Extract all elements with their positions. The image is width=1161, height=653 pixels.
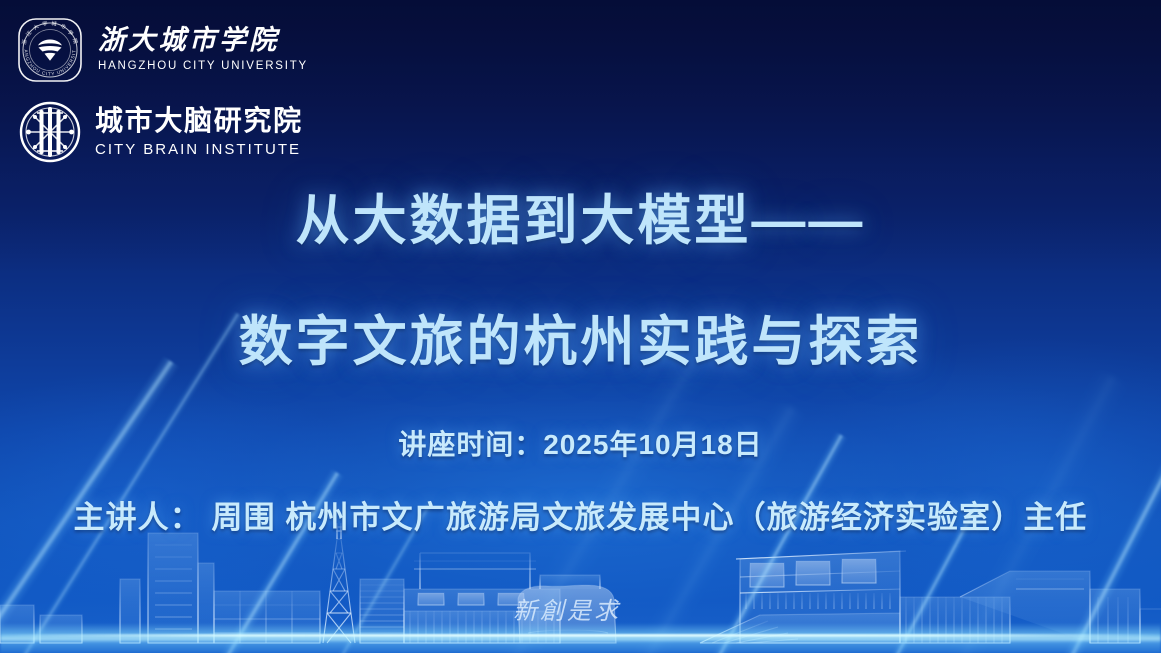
- slide-title-line-2: 数字文旅的杭州实践与探索: [239, 312, 923, 372]
- speaker-container: 主讲人： 周围 杭州市文广旅游局文旅发展中心（旅游经济实验室）主任: [0, 492, 1161, 537]
- institute-name-en: CITY BRAIN INSTITUTE: [95, 142, 303, 157]
- speaker-text: 主讲人： 周围 杭州市文广旅游局文旅发展中心（旅游经济实验室）主任: [73, 500, 1087, 535]
- university-name-cn: 浙大城市学院: [98, 27, 308, 54]
- lecture-time-text: 讲座时间：2025年10月18日: [398, 429, 762, 460]
- university-emblem-icon: 浙 江 大 学 城 市 学 院 HANGZHOU CITY UNIVERSITY: [14, 14, 86, 86]
- lecture-time-container: 讲座时间：2025年10月18日: [0, 423, 1161, 463]
- institute-emblem-icon: [18, 100, 82, 164]
- institute-name-cn: 城市大脑研究院: [95, 107, 303, 135]
- slide-title-line-1: 从大数据到大模型——: [296, 191, 866, 251]
- title-line-2-container: 数字文旅的杭州实践与探索: [0, 297, 1161, 376]
- university-name-en: HANGZHOU CITY UNIVERSITY: [98, 61, 308, 73]
- calligraphy-text: 新創是求: [513, 598, 621, 625]
- university-logo: 浙 江 大 学 城 市 学 院 HANGZHOU CITY UNIVERSITY…: [14, 14, 308, 86]
- bottom-light-bar: [0, 623, 1161, 653]
- bottom-light-line: [0, 634, 1161, 637]
- title-line-1-container: 从大数据到大模型——: [0, 176, 1161, 255]
- institute-logo: 城市大脑研究院 CITY BRAIN INSTITUTE: [18, 100, 303, 164]
- presentation-slide: 新創是求 浙 江 大 学 城 市 学 院 HANGZHOU CITY UNIVE…: [0, 0, 1161, 653]
